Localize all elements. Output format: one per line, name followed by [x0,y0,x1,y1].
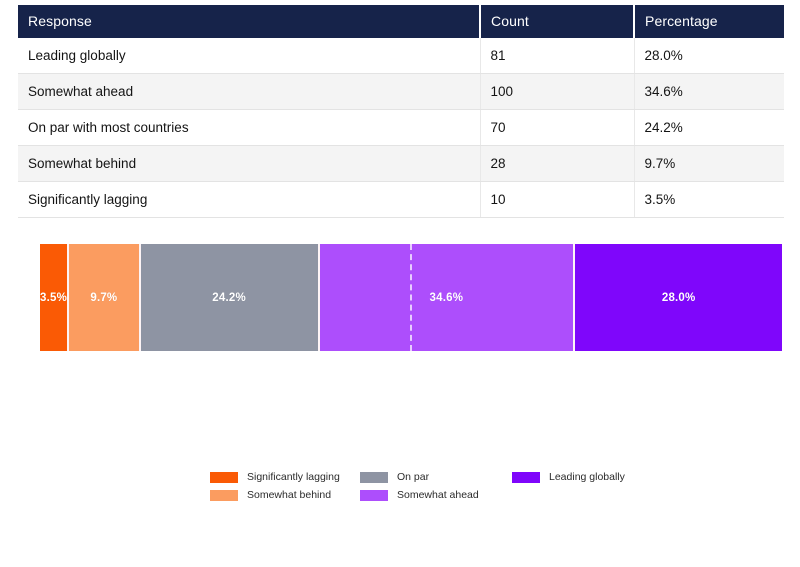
legend-swatch-icon [210,472,238,483]
column-header-response: Response [18,5,480,38]
legend-swatch-icon [360,472,388,483]
legend-item-somewhat-ahead[interactable]: Somewhat ahead [360,486,512,504]
legend-item-significantly-lagging[interactable]: Significantly lagging [210,468,360,486]
bar-segment-label: 28.0% [662,292,696,304]
cell-count: 10 [480,182,634,218]
bar-segment-label: 34.6% [430,292,464,304]
legend-label: On par [397,472,429,483]
column-header-count: Count [480,5,634,38]
table-header-row: Response Count Percentage [18,5,784,38]
legend-item-on-par[interactable]: On par [360,468,512,486]
legend-label: Leading globally [549,472,625,483]
chart-legend: Significantly lagging Somewhat behind On… [210,468,640,504]
table-row: Leading globally 81 28.0% [18,38,784,74]
cell-percentage: 3.5% [634,182,784,218]
legend-label: Somewhat behind [247,490,331,501]
cell-count: 28 [480,146,634,182]
column-header-percentage: Percentage [634,5,784,38]
table-row: Somewhat ahead 100 34.6% [18,74,784,110]
cell-percentage: 28.0% [634,38,784,74]
legend-swatch-icon [210,490,238,501]
legend-swatch-icon [360,490,388,501]
cell-count: 81 [480,38,634,74]
legend-label: Significantly lagging [247,472,340,483]
bar-segment-label: 24.2% [212,292,246,304]
bar-segment-somewhat-behind: 9.7% [69,244,141,351]
table-row: Significantly lagging 10 3.5% [18,182,784,218]
bar-segment-on-par: 24.2% [141,244,320,351]
table-header: Response Count Percentage [18,5,784,38]
response-summary-table: Response Count Percentage Leading global… [18,5,784,218]
bar-segment-label: 3.5% [40,292,67,304]
bar-segment-somewhat-ahead: 34.6% [320,244,576,351]
cell-percentage: 9.7% [634,146,784,182]
legend-label: Somewhat ahead [397,490,479,501]
bar-segment-leading-globally: 28.0% [575,244,782,351]
cell-response: Leading globally [18,38,480,74]
cell-count: 70 [480,110,634,146]
legend-swatch-icon [512,472,540,483]
legend-item-somewhat-behind[interactable]: Somewhat behind [210,486,360,504]
cell-response: Somewhat ahead [18,74,480,110]
cell-percentage: 34.6% [634,74,784,110]
bar-segment-label: 9.7% [90,292,117,304]
cell-percentage: 24.2% [634,110,784,146]
table-body: Leading globally 81 28.0% Somewhat ahead… [18,38,784,218]
cell-count: 100 [480,74,634,110]
stacked-bar-chart: 3.5% 9.7% 24.2% 34.6% 28.0% [40,244,779,351]
cell-response: On par with most countries [18,110,480,146]
table-row: Somewhat behind 28 9.7% [18,146,784,182]
legend-item-leading-globally[interactable]: Leading globally [512,468,640,486]
cell-response: Somewhat behind [18,146,480,182]
response-table: Response Count Percentage Leading global… [18,5,784,218]
stacked-bar-track: 3.5% 9.7% 24.2% 34.6% 28.0% [40,244,779,351]
cell-response: Significantly lagging [18,182,480,218]
bar-segment-significantly-lagging: 3.5% [40,244,69,351]
table-row: On par with most countries 70 24.2% [18,110,784,146]
